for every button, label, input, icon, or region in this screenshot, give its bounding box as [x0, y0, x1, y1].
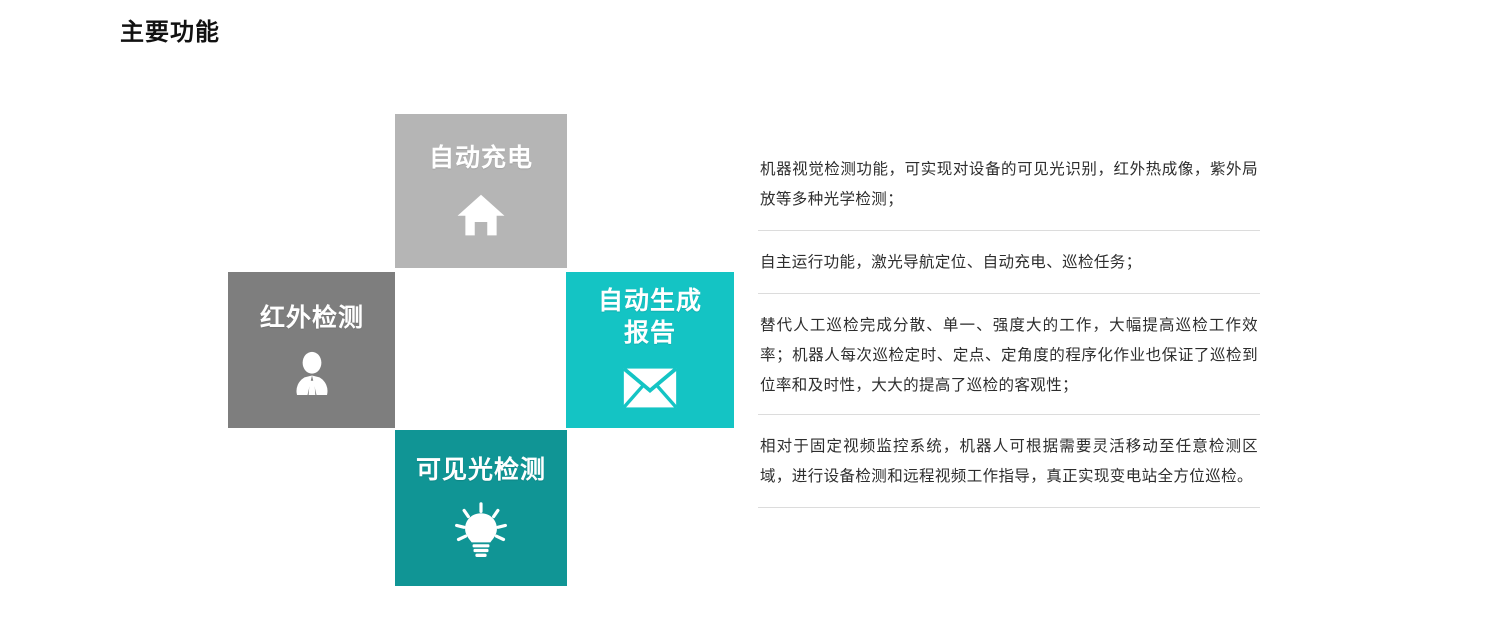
feature-text-1: 机器视觉检测功能，可实现对设备的可见光识别，红外热成像，紫外局放等多种光学检测； — [758, 148, 1260, 230]
tile-auto-report[interactable]: 自动生成 报告 — [566, 272, 734, 428]
list-item: 机器视觉检测功能，可实现对设备的可见光识别，红外热成像，紫外局放等多种光学检测； — [758, 148, 1260, 231]
tile-auto-charge[interactable]: 自动充电 — [395, 114, 567, 268]
person-icon — [288, 350, 336, 398]
list-item: 相对于固定视频监控系统，机器人可根据需要灵活移动至任意检测区域，进行设备检测和远… — [758, 415, 1260, 508]
feature-description-list: 机器视觉检测功能，可实现对设备的可见光识别，红外热成像，紫外局放等多种光学检测；… — [758, 148, 1260, 508]
feature-tile-grid: 自动充电 红外检测 自动生成 报告 — [228, 114, 734, 586]
tile-auto-charge-label: 自动充电 — [429, 142, 533, 174]
page-title: 主要功能 — [120, 16, 220, 50]
tile-visible-light-detection[interactable]: 可见光检测 — [395, 430, 567, 586]
list-item: 自主运行功能，激光导航定位、自动充电、巡检任务； — [758, 231, 1260, 294]
tile-visible-light-detection-label: 可见光检测 — [416, 454, 546, 486]
tile-infrared-detection-label: 红外检测 — [260, 302, 364, 334]
tile-center-blank — [395, 272, 567, 428]
tile-auto-report-label: 自动生成 报告 — [598, 285, 702, 349]
list-item: 替代人工巡检完成分散、单一、强度大的工作，大幅提高巡检工作效率；机器人每次巡检定… — [758, 294, 1260, 415]
feature-text-2: 自主运行功能，激光导航定位、自动充电、巡检任务； — [758, 231, 1260, 293]
feature-text-4: 相对于固定视频监控系统，机器人可根据需要灵活移动至任意检测区域，进行设备检测和远… — [758, 415, 1260, 507]
tile-infrared-detection[interactable]: 红外检测 — [228, 272, 396, 428]
feature-text-3: 替代人工巡检完成分散、单一、强度大的工作，大幅提高巡检工作效率；机器人每次巡检定… — [758, 294, 1260, 414]
home-icon — [456, 190, 506, 240]
lightbulb-icon — [451, 502, 511, 562]
envelope-icon — [623, 361, 677, 415]
